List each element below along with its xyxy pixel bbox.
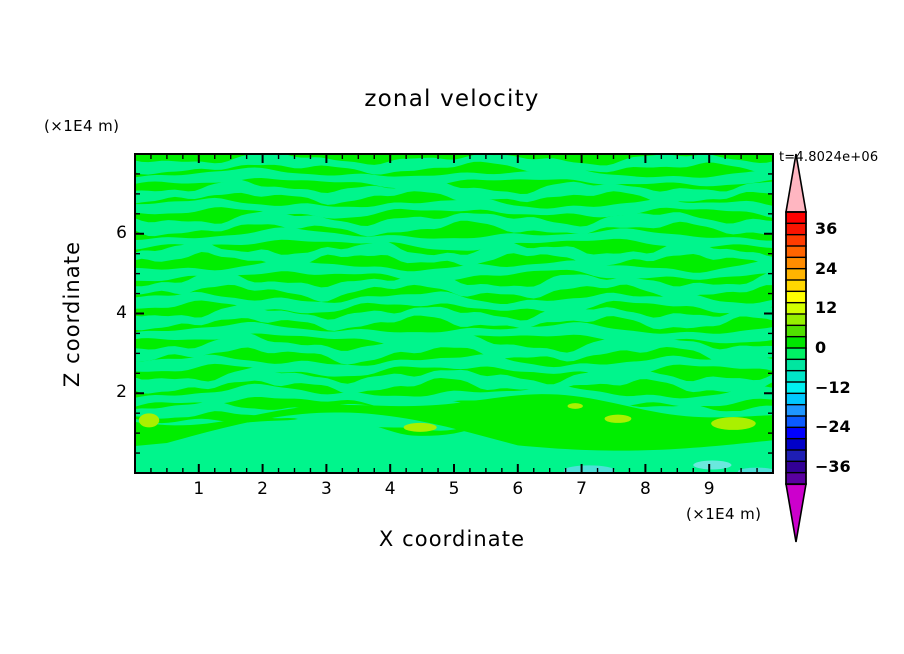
x-tick-label: 3 <box>311 479 341 499</box>
x-tick-label: 8 <box>630 479 660 499</box>
contour-maximum-blob <box>605 415 632 423</box>
x-axis-unit-label: (×1E4 m) <box>686 505 761 523</box>
y-tick-label: 2 <box>97 382 127 402</box>
colorbar-tick-label: 12 <box>815 298 837 317</box>
y-tick-label: 4 <box>97 303 127 323</box>
colorbar-tick-label: 24 <box>815 259 837 278</box>
colorbar-tick-label: −36 <box>815 457 851 476</box>
y-tick-label: 6 <box>97 223 127 243</box>
contour-plot <box>0 0 904 654</box>
x-tick-label: 5 <box>439 479 469 499</box>
colorbar-tick-label: 36 <box>815 219 837 238</box>
x-tick-label: 6 <box>503 479 533 499</box>
x-tick-label: 4 <box>375 479 405 499</box>
x-tick-label: 9 <box>694 479 724 499</box>
contour-maximum-blob <box>404 423 437 432</box>
colorbar-tick-label: −12 <box>815 378 851 397</box>
contour-maximum-blob <box>711 417 756 430</box>
contour-maximum-blob <box>139 413 159 427</box>
x-tick-label: 1 <box>184 479 214 499</box>
contour-minimum-blob <box>564 465 615 475</box>
x-axis-title: X coordinate <box>0 527 904 551</box>
contour-maximum-blob <box>568 403 583 409</box>
colorbar-tick-label: −24 <box>815 417 851 436</box>
contour-field <box>135 152 776 475</box>
figure-canvas: zonal velocity (×1E4 m) t=4.8024e+06 123… <box>0 0 904 654</box>
x-tick-label: 7 <box>567 479 597 499</box>
y-axis-title: Z coordinate <box>60 194 84 434</box>
x-tick-label: 2 <box>248 479 278 499</box>
colorbar-tick-label: 0 <box>815 338 826 357</box>
